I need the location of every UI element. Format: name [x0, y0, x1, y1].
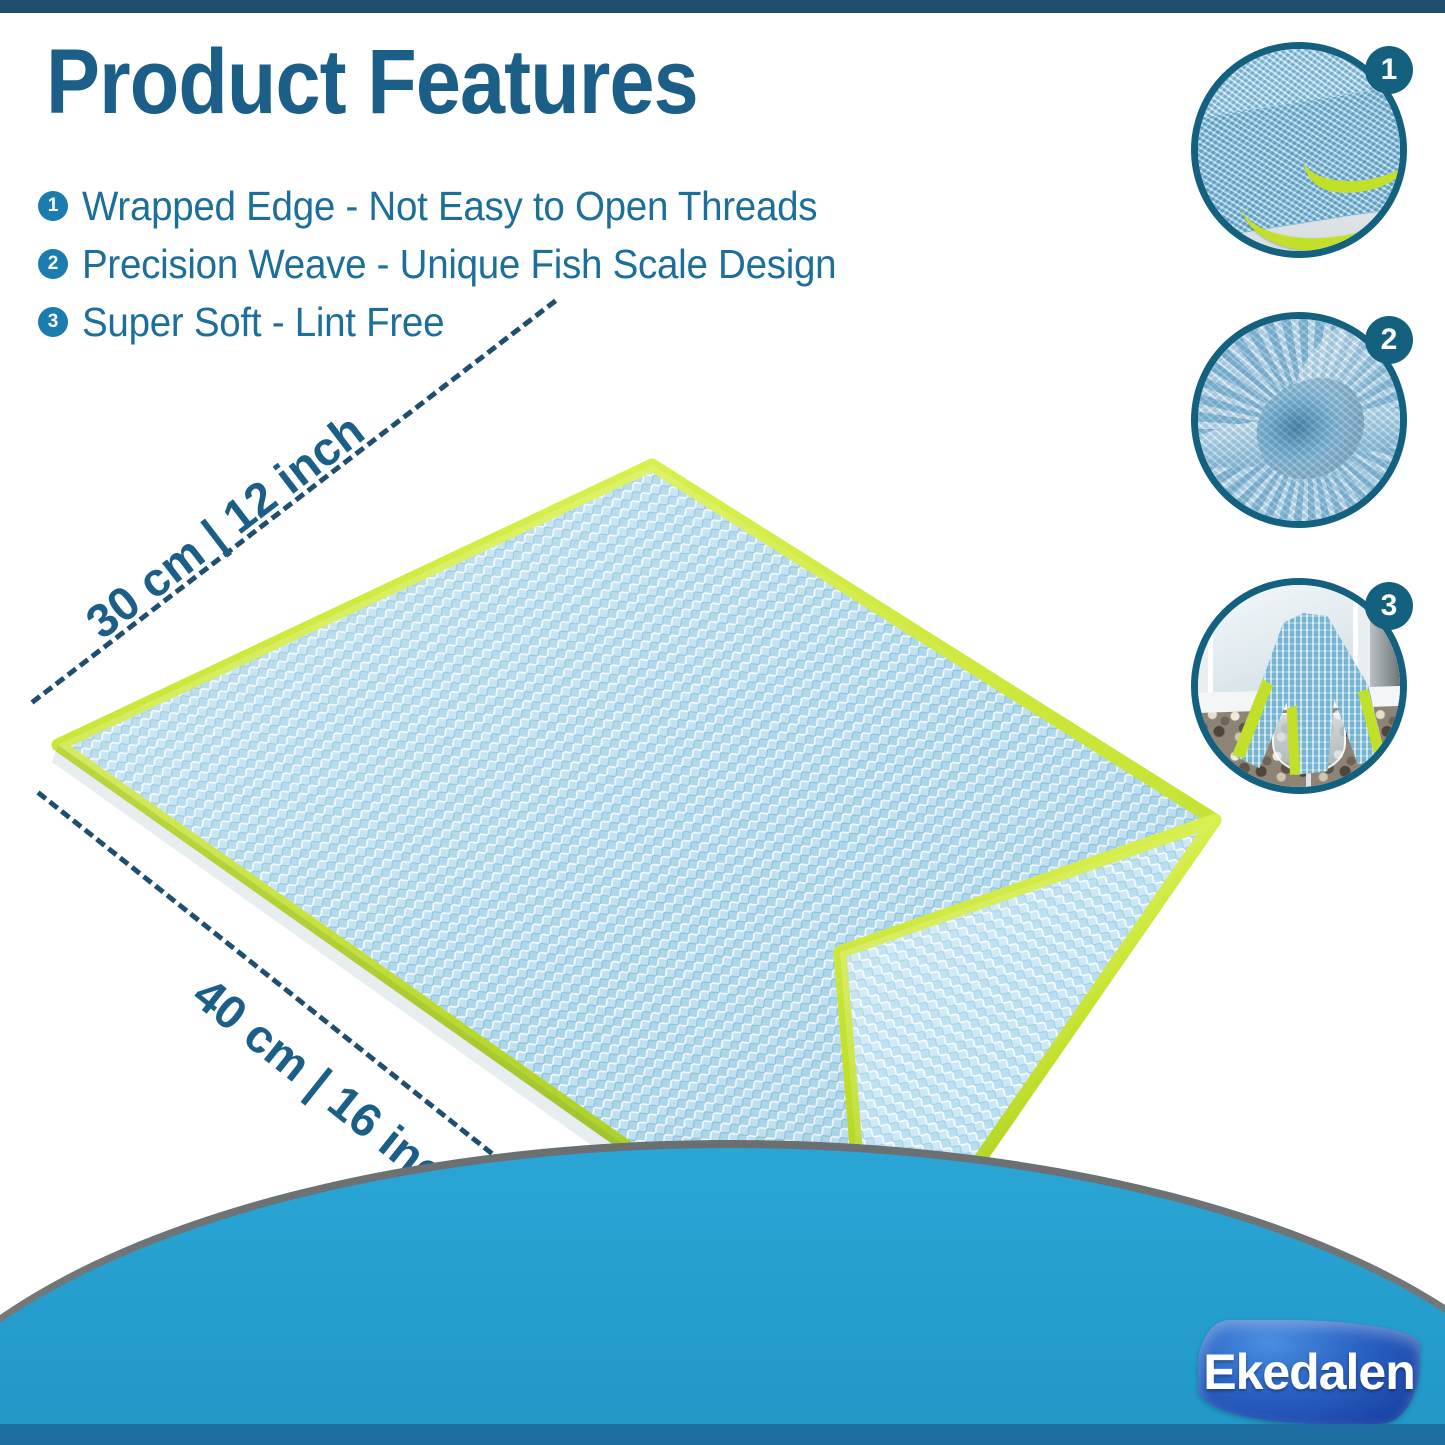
bottom-border-band [0, 1424, 1445, 1445]
inset-badge-3: 3 [1365, 582, 1413, 630]
list-item: 2 Precision Weave - Unique Fish Scale De… [38, 236, 868, 292]
page-title: Product Features [46, 36, 698, 128]
list-item: 3 Super Soft - Lint Free [38, 294, 868, 350]
inset-badge-2: 2 [1365, 316, 1413, 364]
feature-label: Precision Weave - Unique Fish Scale Desi… [82, 241, 836, 288]
feature-list: 1 Wrapped Edge - Not Easy to Open Thread… [38, 178, 868, 352]
inset-3-wine-glass-stem [1306, 771, 1311, 794]
bullet-number-badge: 1 [38, 191, 68, 221]
bullet-number-badge: 2 [38, 249, 68, 279]
list-item: 1 Wrapped Edge - Not Easy to Open Thread… [38, 178, 868, 234]
top-border-band [0, 0, 1445, 13]
product-feature-infographic: Product Features 1 Wrapped Edge - Not Ea… [0, 0, 1445, 1445]
brand-logo: Ekedalen [1198, 1320, 1420, 1424]
feature-label: Super Soft - Lint Free [82, 299, 444, 346]
bullet-number-badge: 3 [38, 307, 68, 337]
feature-label: Wrapped Edge - Not Easy to Open Threads [82, 183, 817, 230]
inset-badge-1: 1 [1365, 46, 1413, 94]
brand-name: Ekedalen [1198, 1343, 1420, 1401]
